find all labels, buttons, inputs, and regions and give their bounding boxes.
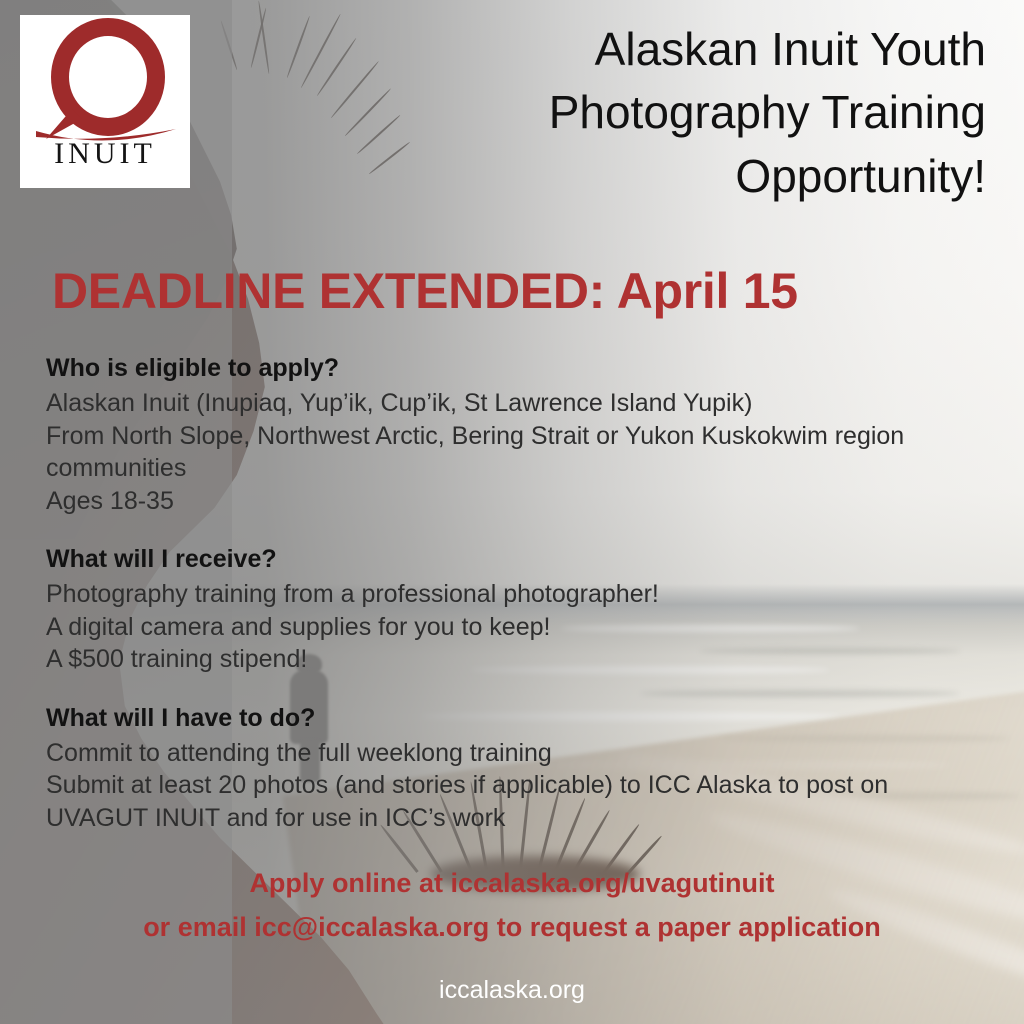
- section-line: Ages 18-35: [46, 485, 996, 518]
- section-heading: What will I have to do?: [46, 702, 996, 735]
- section-eligibility: Who is eligible to apply? Alaskan Inuit …: [46, 352, 996, 517]
- logo-wordmark: INUIT: [20, 137, 190, 171]
- apply-online-link[interactable]: Apply online at iccalaska.org/uvagutinui…: [249, 868, 774, 898]
- icc-inuit-logo: INUIT: [20, 15, 190, 188]
- section-line: Photography training from a professional…: [46, 578, 996, 611]
- deadline-headline: DEADLINE EXTENDED: April 15: [52, 262, 798, 320]
- section-line: A digital camera and supplies for you to…: [46, 611, 996, 644]
- section-line: UVAGUT INUIT and for use in ICC’s work: [46, 802, 996, 835]
- section-heading: Who is eligible to apply?: [46, 352, 996, 385]
- section-receive: What will I receive? Photography trainin…: [46, 543, 996, 676]
- info-sections: Who is eligible to apply? Alaskan Inuit …: [46, 352, 996, 834]
- title-line-1: Alaskan Inuit Youth: [386, 18, 986, 81]
- section-line: communities: [46, 452, 996, 485]
- section-requirements: What will I have to do? Commit to attend…: [46, 702, 996, 835]
- section-line: A $500 training stipend!: [46, 643, 996, 676]
- email-application-link[interactable]: or email icc@iccalaska.org to request a …: [0, 906, 1024, 950]
- poster-canvas: INUIT Alaskan Inuit Youth Photography Tr…: [0, 0, 1024, 1024]
- call-to-action: Apply online at iccalaska.org/uvagutinui…: [0, 862, 1024, 949]
- poster-content: INUIT Alaskan Inuit Youth Photography Tr…: [0, 0, 1024, 1024]
- section-line: From North Slope, Northwest Arctic, Beri…: [46, 420, 996, 453]
- footer-website[interactable]: iccalaska.org: [0, 976, 1024, 1005]
- section-line: Alaskan Inuit (Inupiaq, Yup’ik, Cup’ik, …: [46, 387, 996, 420]
- title-line-2: Photography Training: [386, 81, 986, 144]
- section-line: Submit at least 20 photos (and stories i…: [46, 769, 996, 802]
- title-line-3: Opportunity!: [386, 145, 986, 208]
- page-title: Alaskan Inuit Youth Photography Training…: [386, 18, 986, 208]
- section-line: Commit to attending the full weeklong tr…: [46, 737, 996, 770]
- section-heading: What will I receive?: [46, 543, 996, 576]
